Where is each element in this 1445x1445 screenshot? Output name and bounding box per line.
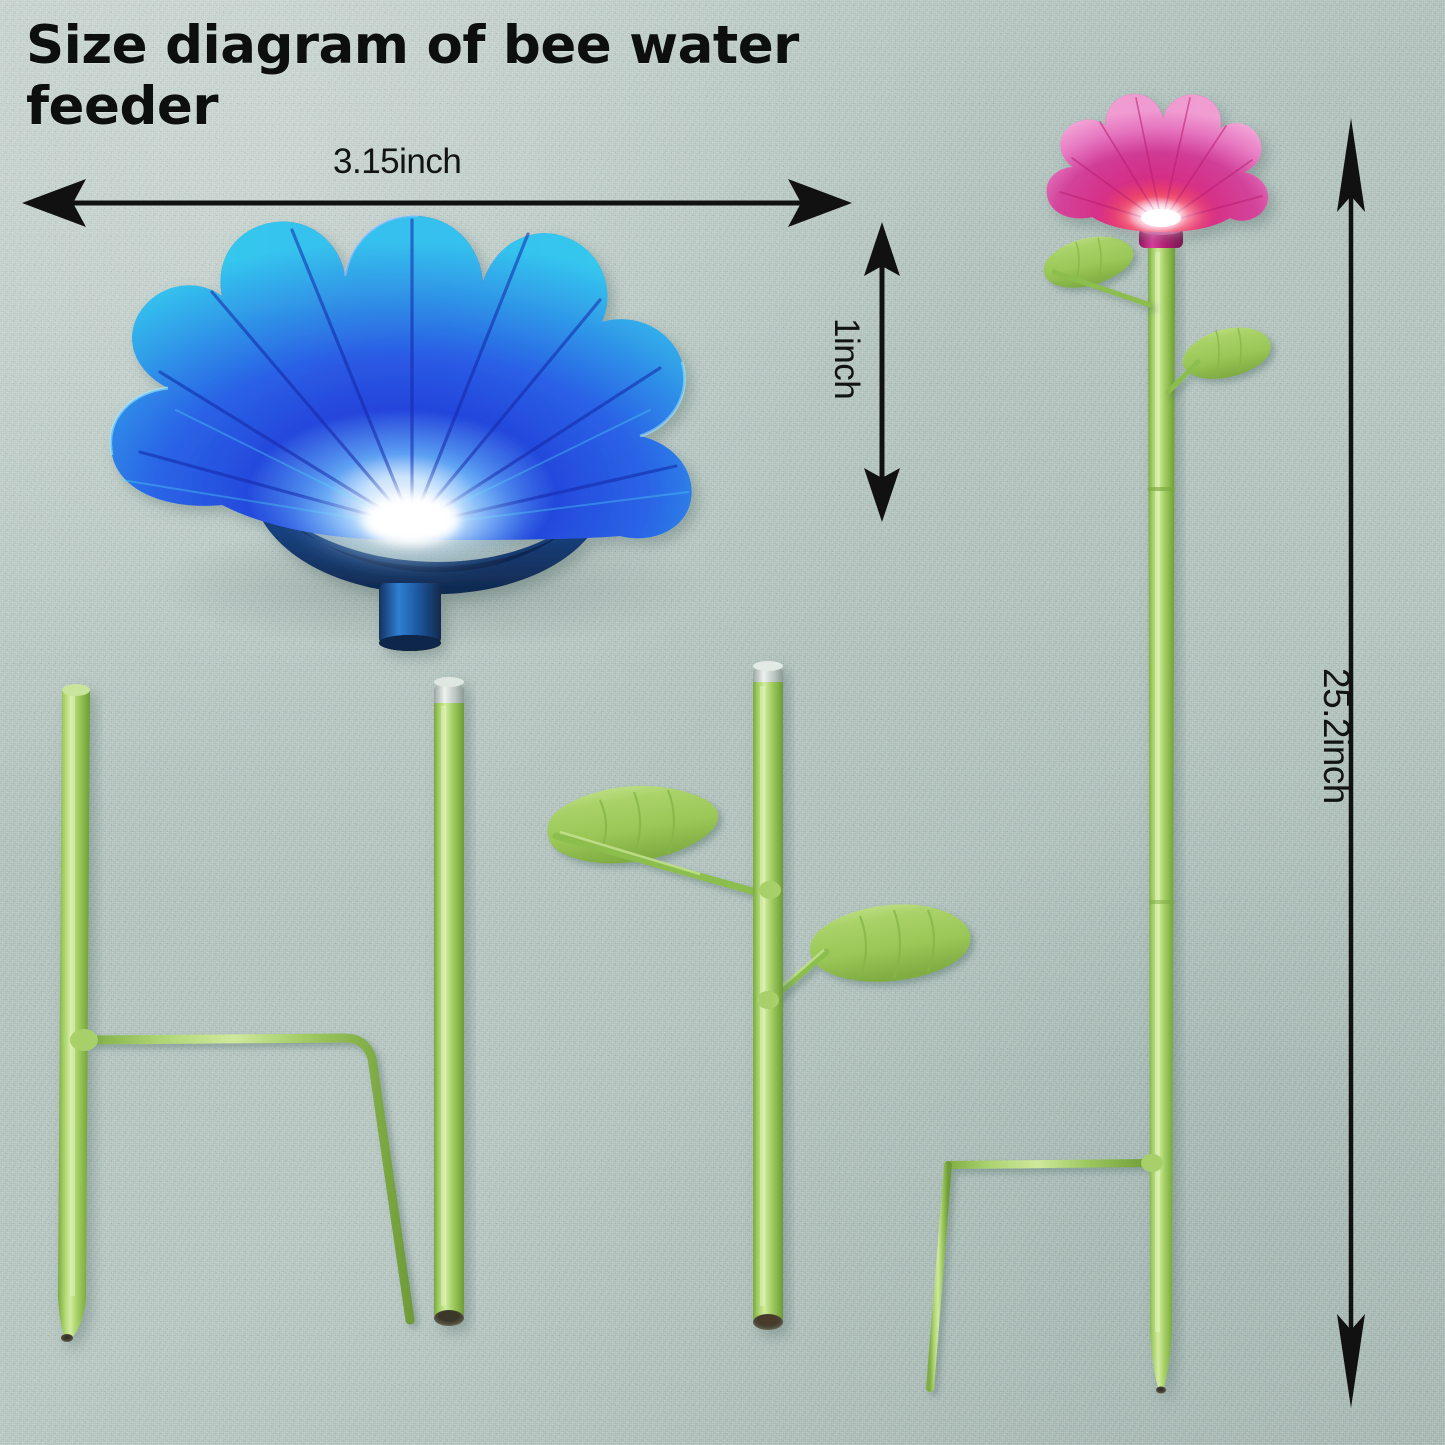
total-height-dimension-arrow: [1337, 118, 1365, 1408]
leaf-upper-left: [547, 786, 756, 892]
blue-flower-dish: [111, 216, 692, 651]
stake-middle-rod: [434, 677, 464, 1326]
assembled-support-bracket: [930, 1163, 1148, 1388]
diagram-canvas: Size diagram of bee water feeder 3.15inc…: [0, 0, 1445, 1445]
assembled-leaf-lower-right: [1168, 327, 1271, 392]
pink-flower-head: [1047, 94, 1269, 235]
bottom-rod: [58, 684, 90, 1342]
assembled-leaf-upper-left: [1044, 237, 1150, 305]
stake-bottom-rod: [58, 684, 410, 1342]
leaf-lower-right: [768, 904, 970, 1002]
stake-leaf-rod: [547, 661, 970, 1330]
ground-support-bracket: [88, 1038, 410, 1320]
height-dimension-arrow: [864, 222, 900, 522]
assembled-stem: [1148, 240, 1175, 1394]
pink-flower-stake: [930, 94, 1271, 1394]
product-illustration: [0, 0, 1445, 1445]
